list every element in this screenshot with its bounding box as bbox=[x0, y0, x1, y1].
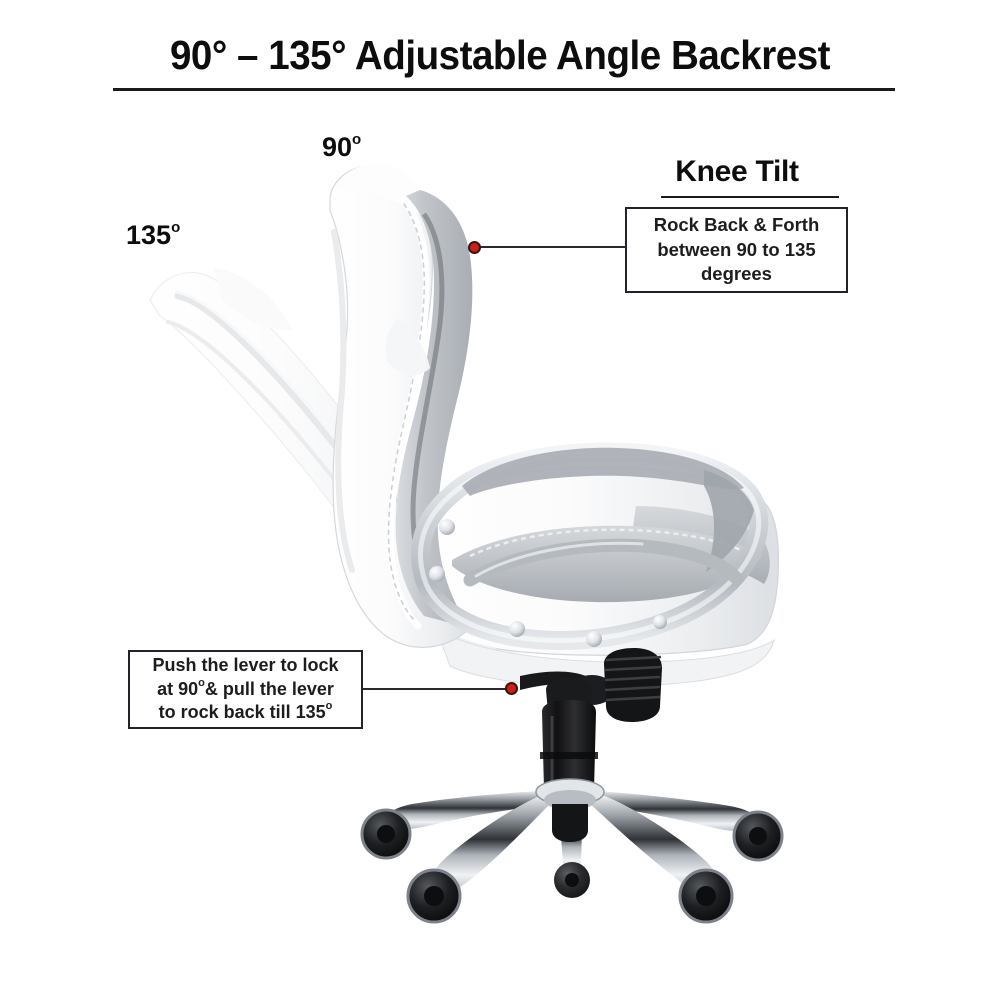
angle-label-90: 90o bbox=[322, 134, 361, 161]
caster bbox=[554, 862, 590, 898]
degree-icon: o bbox=[326, 700, 333, 712]
infographic-canvas: 90° – 135° Adjustable Angle Backrest 90o… bbox=[0, 0, 1000, 1000]
knee-tilt-heading-underline bbox=[661, 196, 839, 198]
lever-line-1: Push the lever to lock bbox=[152, 655, 338, 675]
page-title: 90° – 135° Adjustable Angle Backrest bbox=[0, 34, 1000, 77]
knee-tilt-callout-text: Rock Back & Forth between 90 to 135 degr… bbox=[647, 213, 827, 286]
caster bbox=[734, 812, 782, 860]
degree-icon: o bbox=[198, 677, 205, 689]
lever-line-3a: to rock back till 135 bbox=[159, 702, 326, 722]
knee-tilt-line-2: between 90 to 135 bbox=[657, 239, 815, 260]
lever-line-2a: at 90 bbox=[157, 679, 198, 699]
degree-icon: o bbox=[352, 131, 361, 148]
lever-leader-line bbox=[362, 688, 509, 690]
lever-callout-box: Push the lever to lock at 90o& pull the … bbox=[128, 650, 363, 729]
armrest-rivet bbox=[439, 519, 455, 535]
knee-tilt-leader-line bbox=[479, 246, 626, 248]
angle-135-value: 135 bbox=[126, 220, 171, 250]
knee-tilt-line-3: degrees bbox=[701, 263, 772, 284]
lever-line-2b: & pull the lever bbox=[205, 679, 334, 699]
degree-icon: o bbox=[171, 219, 180, 236]
angle-label-135: 135o bbox=[126, 222, 180, 249]
knee-tilt-callout-box: Rock Back & Forth between 90 to 135 degr… bbox=[625, 207, 848, 293]
office-chair-illustration bbox=[0, 0, 1000, 1000]
caster bbox=[362, 810, 410, 858]
title-underline bbox=[113, 88, 895, 91]
tension-knob bbox=[604, 648, 662, 722]
caster bbox=[680, 870, 732, 922]
page-title-text: 90° – 135° Adjustable Angle Backrest bbox=[30, 34, 970, 77]
knee-tilt-heading: Knee Tilt bbox=[617, 155, 857, 189]
lever-callout-text: Push the lever to lock at 90o& pull the … bbox=[148, 654, 342, 724]
caster bbox=[408, 870, 460, 922]
knee-tilt-line-1: Rock Back & Forth bbox=[654, 214, 820, 235]
knee-tilt-marker-dot bbox=[468, 241, 481, 254]
lever-marker-dot bbox=[505, 682, 518, 695]
angle-90-value: 90 bbox=[322, 132, 352, 162]
